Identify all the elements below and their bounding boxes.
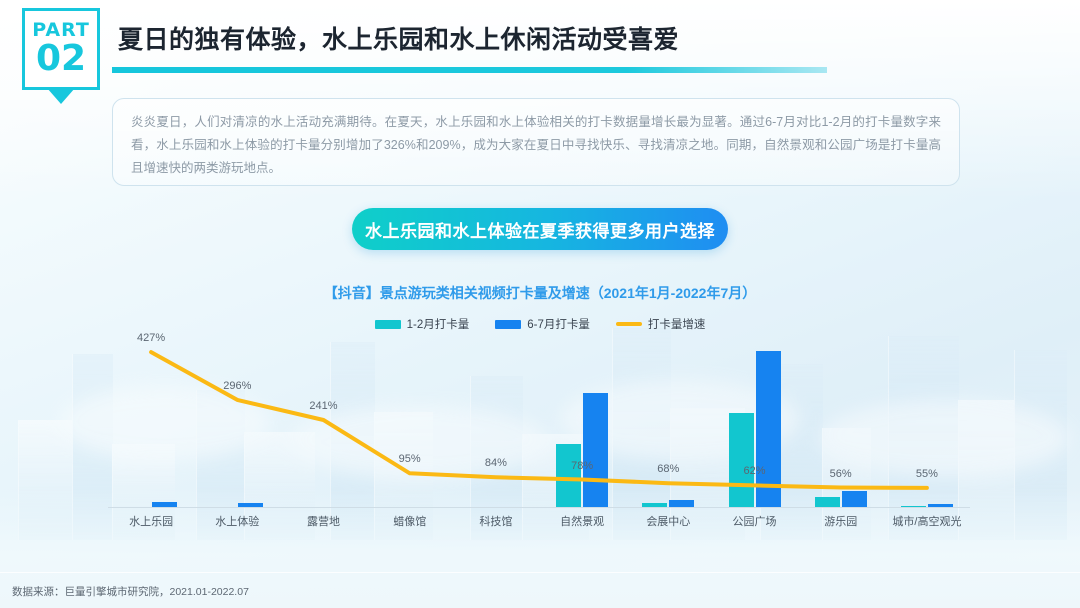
part-badge: PART 02 xyxy=(22,8,100,90)
category-label: 自然景观 xyxy=(539,512,625,534)
growth-label: 68% xyxy=(628,463,708,475)
chart-legend: 1-2月打卡量 6-7月打卡量 打卡量增速 xyxy=(0,316,1080,332)
highlight-banner-text: 水上乐园和水上体验在夏季获得更多用户选择 xyxy=(365,217,715,242)
growth-line-series xyxy=(108,340,970,508)
footer-source: 数据来源：巨量引擎城市研究院，2021.01-2022.07 xyxy=(12,584,249,599)
category-label: 水上体验 xyxy=(194,512,280,534)
legend-swatch-jun-jul xyxy=(495,320,521,329)
description-text: 炎炎夏日，人们对清凉的水上活动充满期待。在夏天，水上乐园和水上体验相关的打卡数据… xyxy=(131,111,941,180)
category-label: 科技馆 xyxy=(453,512,539,534)
growth-label: 84% xyxy=(456,457,536,469)
chart-category-labels: 水上乐园水上体验露营地蜡像馆科技馆自然景观会展中心公园广场游乐园城市/高空观光 xyxy=(108,512,970,534)
footer-divider xyxy=(0,572,1080,573)
chart-plot-area: 427%296%241%95%84%78%68%62%56%55% xyxy=(108,340,970,508)
growth-label: 427% xyxy=(111,332,191,344)
legend-swatch-jan-feb xyxy=(375,320,401,329)
growth-label: 56% xyxy=(801,468,881,480)
page-title: 夏日的独有体验，水上乐园和水上休闲活动受喜爱 xyxy=(118,20,679,56)
legend-item-jun-jul: 6-7月打卡量 xyxy=(495,316,590,332)
category-label: 蜡像馆 xyxy=(367,512,453,534)
category-label: 会展中心 xyxy=(625,512,711,534)
category-label: 水上乐园 xyxy=(108,512,194,534)
legend-item-jan-feb: 1-2月打卡量 xyxy=(375,316,470,332)
chart-x-axis xyxy=(108,507,970,508)
category-label: 公园广场 xyxy=(711,512,797,534)
category-label: 露营地 xyxy=(280,512,366,534)
legend-item-growth: 打卡量增速 xyxy=(616,316,706,332)
growth-label: 296% xyxy=(197,380,277,392)
part-badge-number: 02 xyxy=(36,41,86,77)
growth-label: 55% xyxy=(887,468,967,480)
slide-root: PART 02 夏日的独有体验，水上乐园和水上休闲活动受喜爱 炎炎夏日，人们对清… xyxy=(0,0,1080,608)
header: PART 02 夏日的独有体验，水上乐园和水上休闲活动受喜爱 xyxy=(0,0,1080,108)
title-underline xyxy=(112,67,827,73)
description-card: 炎炎夏日，人们对清凉的水上活动充满期待。在夏天，水上乐园和水上体验相关的打卡数据… xyxy=(112,98,960,186)
growth-label: 241% xyxy=(284,400,364,412)
legend-label-growth: 打卡量增速 xyxy=(648,316,706,332)
growth-label: 62% xyxy=(715,465,795,477)
legend-label-jan-feb: 1-2月打卡量 xyxy=(407,316,470,332)
category-label: 城市/高空观光 xyxy=(884,512,970,534)
legend-label-jun-jul: 6-7月打卡量 xyxy=(527,316,590,332)
growth-label: 95% xyxy=(370,453,450,465)
chart-title: 【抖音】景点游玩类相关视频打卡量及增速（2021年1月-2022年7月） xyxy=(0,283,1080,303)
legend-swatch-growth xyxy=(616,322,642,326)
category-label: 游乐园 xyxy=(798,512,884,534)
part-badge-pointer-icon xyxy=(47,88,75,104)
highlight-banner: 水上乐园和水上体验在夏季获得更多用户选择 xyxy=(352,208,728,250)
growth-label: 78% xyxy=(542,460,622,472)
